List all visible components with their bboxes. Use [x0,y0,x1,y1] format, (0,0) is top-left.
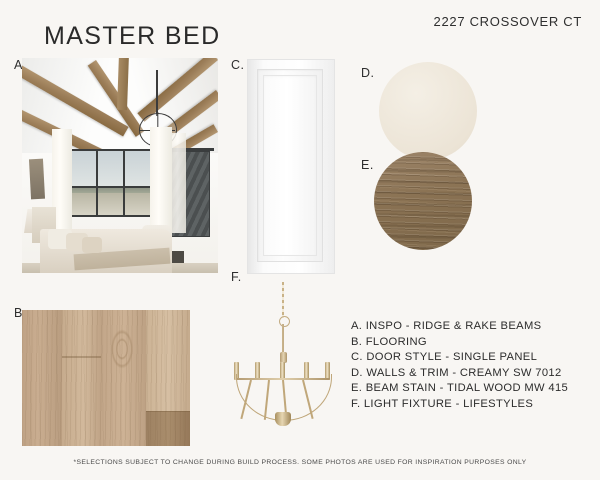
swatch-beam-stain-tidal-wood [374,152,472,250]
stain-grain-texture [374,152,472,250]
label-e: E. [361,158,374,172]
photo-chandelier-rod [156,70,158,116]
photo-window [68,149,154,217]
curtain [150,127,172,233]
legend-list: A. INSPO - RIDGE & RAKE BEAMS B. FLOORIN… [351,319,591,413]
door-stile [257,69,323,262]
page-title: MASTER BED [44,22,221,51]
legend-item: D. WALLS & TRIM - CREAMY SW 7012 [351,366,591,382]
door-center-panel [263,75,317,256]
curtain [172,133,186,233]
ridge-beam [117,58,129,110]
light-fixture-chandelier [228,282,338,430]
legend-item: A. INSPO - RIDGE & RAKE BEAMS [351,319,591,335]
flooring-sample [22,310,190,446]
inspiration-photo-bedroom [22,58,218,273]
legend-item: F. LIGHT FIXTURE - LIFESTYLES [351,397,591,413]
disclaimer-text: *SELECTIONS SUBJECT TO CHANGE DURING BUI… [0,459,600,466]
chandelier-finial [275,412,291,426]
swatch-walls-trim-creamy [379,62,477,160]
legend-item: B. FLOORING [351,335,591,351]
floor-grain-texture [22,310,190,446]
legend-item: E. BEAM STAIN - TIDAL WOOD MW 415 [351,381,591,397]
window-mullion [96,151,98,215]
window-mullion [123,151,125,215]
label-d: D. [361,66,375,80]
window-landscape [70,193,152,215]
mood-board: MASTER BED 2227 CROSSOVER CT A. [0,0,600,480]
project-address: 2227 CROSSOVER CT [434,14,582,29]
door-sample-single-panel [248,60,334,273]
legend-item: C. DOOR STYLE - SINGLE PANEL [351,350,591,366]
chandelier-chain [282,282,284,318]
floor-seam [62,356,101,357]
photo-wall-art [29,159,45,200]
window-mullion [70,186,152,188]
photo-pillow [82,237,102,253]
label-c: C. [231,58,245,72]
floor-seam [146,411,190,412]
